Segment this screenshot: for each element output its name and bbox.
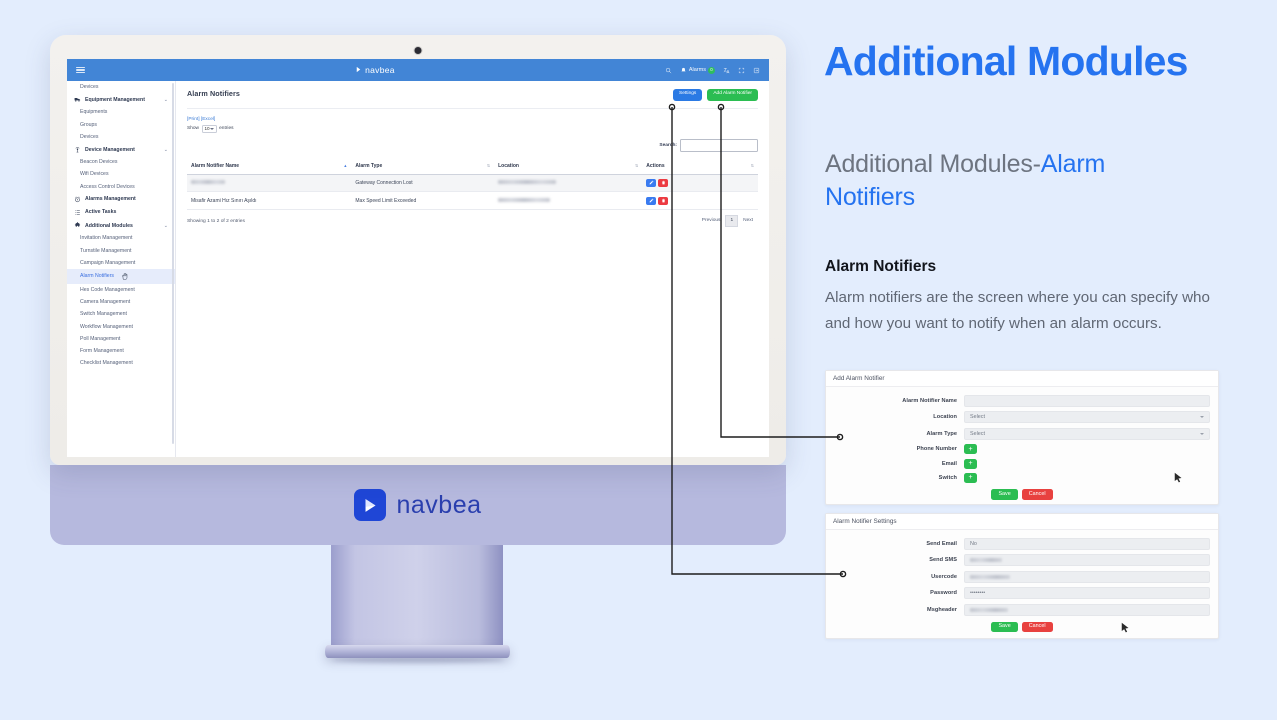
cell-location bbox=[494, 192, 642, 210]
sidebar-item-label: Groups bbox=[80, 122, 97, 128]
field-switch: Switch + bbox=[834, 473, 1210, 483]
alarm-notifier-settings-panel: Alarm Notifier Settings Send Email No Se… bbox=[825, 513, 1219, 639]
monitor-screen: navbea Alarms 0 bbox=[67, 59, 769, 457]
entries-label: entries bbox=[219, 126, 233, 131]
sidebar-item-label: Invitation Management bbox=[80, 235, 132, 241]
cancel-button[interactable]: Cancel bbox=[1022, 622, 1053, 633]
sidebar-item-poll-management[interactable]: Poll Management bbox=[67, 333, 175, 345]
monitor-frame: navbea Alarms 0 bbox=[50, 35, 786, 465]
msgheader-input[interactable] bbox=[964, 604, 1210, 616]
monitor-brand-label: navbea bbox=[396, 491, 481, 520]
main-content: Alarm Notifiers Settings Add Alarm Notif… bbox=[176, 81, 769, 457]
logout-icon[interactable] bbox=[753, 67, 760, 74]
monitor-brand-strip: navbea bbox=[50, 465, 786, 545]
truck-icon bbox=[74, 96, 81, 103]
monitor-mockup: navbea navbea bbox=[0, 0, 820, 720]
sidebar-scrollbar[interactable] bbox=[172, 83, 174, 444]
sidebar-item-checklist-management[interactable]: Checklist Management bbox=[67, 357, 175, 369]
field-label: Send SMS bbox=[834, 557, 964, 563]
alarm-notifier-name-input[interactable] bbox=[964, 395, 1210, 407]
hand-cursor-icon bbox=[121, 272, 129, 281]
field-usercode: Usercode bbox=[834, 571, 1210, 583]
table-row[interactable]: Gateway Connection Lost bbox=[187, 174, 758, 192]
field-label: Send Email bbox=[834, 541, 964, 547]
sidebar-item-label: Checklist Management bbox=[80, 360, 133, 366]
field-label: Switch bbox=[834, 475, 964, 481]
sidebar-item-label: Form Management bbox=[80, 348, 124, 354]
cell-actions bbox=[642, 192, 758, 210]
sidebar-item-invitation-management[interactable]: Invitation Management bbox=[67, 232, 175, 244]
sidebar-item-turnstile-management[interactable]: Turnstile Management bbox=[67, 244, 175, 256]
sidebar-item-devices[interactable]: Devices bbox=[67, 131, 175, 143]
panel-title: Alarm Notifier Settings bbox=[826, 514, 1218, 530]
table-toolbar: [Print] [Excel] Show 10 entries bbox=[187, 117, 758, 152]
column-location[interactable]: Location⇅ bbox=[494, 159, 642, 175]
translate-icon[interactable] bbox=[723, 67, 730, 74]
sidebar-item-active-tasks[interactable]: Active Tasks bbox=[67, 206, 175, 219]
export-controls: [Print] [Excel] Show 10 entries bbox=[187, 117, 234, 134]
sidebar-item-wifi-devices[interactable]: Wifi Devices bbox=[67, 168, 175, 180]
field-label: Email bbox=[834, 461, 964, 467]
search-label: Search: bbox=[659, 143, 677, 148]
redacted-value bbox=[970, 558, 1002, 562]
sidebar-item-label: Alarms Management bbox=[85, 196, 136, 202]
field-label: Password bbox=[834, 590, 964, 596]
alarms-count-badge: 0 bbox=[708, 67, 715, 74]
sidebar-item-device-management[interactable]: Device Management ⌄ bbox=[67, 143, 175, 156]
field-location: Location Select bbox=[834, 411, 1210, 423]
sidebar-item-alarm-notifiers[interactable]: Alarm Notifiers bbox=[67, 269, 175, 284]
sidebar-item-label: Access Control Devices bbox=[80, 184, 135, 190]
field-label: Msgheader bbox=[834, 607, 964, 613]
add-email-button[interactable]: + bbox=[964, 459, 977, 469]
field-alarm-type: Alarm Type Select bbox=[834, 428, 1210, 440]
sidebar-item-switch-management[interactable]: Switch Management bbox=[67, 308, 175, 320]
panel-actions: Save Cancel bbox=[834, 622, 1210, 633]
cell-alarm-type: Gateway Connection Lost bbox=[351, 174, 494, 192]
sidebar-item-label: Devices bbox=[80, 134, 98, 140]
alarm-notifiers-table: Alarm Notifier Name▲ Alarm Type⇅ Locatio… bbox=[187, 159, 758, 211]
field-label: Phone Number bbox=[834, 446, 964, 452]
app-sidebar[interactable]: Devices Equipment Management ⌄ Equipment… bbox=[67, 81, 176, 457]
webcam-dot-icon bbox=[415, 47, 422, 54]
cell-name bbox=[187, 174, 351, 192]
select-value: Select bbox=[970, 414, 985, 420]
settings-button[interactable]: Settings bbox=[673, 89, 702, 101]
sidebar-item-additional-modules[interactable]: Additional Modules ⌄ bbox=[67, 219, 175, 232]
redacted-value bbox=[970, 575, 1010, 579]
delete-trash-icon[interactable] bbox=[658, 197, 668, 205]
redacted-value bbox=[970, 608, 1008, 612]
sort-icon: ▲ bbox=[343, 164, 347, 168]
field-value: •••••••• bbox=[970, 590, 985, 596]
table-body: Gateway Connection Lost bbox=[187, 174, 758, 210]
antenna-icon bbox=[74, 146, 81, 153]
cell-alarm-type: Max Speed Limit Exceeded bbox=[351, 192, 494, 210]
sidebar-item-workflow-management[interactable]: Workflow Management bbox=[67, 321, 175, 333]
panel-body: Send Email No Send SMS Usercode Password bbox=[826, 530, 1218, 638]
print-link[interactable]: [Print] bbox=[187, 117, 200, 122]
sidebar-item-label: Additional Modules bbox=[85, 223, 133, 229]
monitor-stand-base bbox=[325, 645, 510, 658]
sidebar-item-label: Device Management bbox=[85, 147, 135, 153]
sidebar-item-label: Equipments bbox=[80, 109, 107, 115]
list-icon bbox=[74, 209, 81, 216]
field-label: Usercode bbox=[834, 574, 964, 580]
alarms-bell-button[interactable]: Alarms 0 bbox=[680, 67, 715, 74]
sidebar-item-label: Campaign Management bbox=[80, 260, 135, 266]
content-header: Alarm Notifiers Settings Add Alarm Notif… bbox=[187, 89, 758, 101]
location-select[interactable]: Select bbox=[964, 411, 1210, 423]
pagination-next[interactable]: Next bbox=[738, 215, 758, 227]
field-email: Email + bbox=[834, 459, 1210, 469]
navbea-mark-icon bbox=[355, 65, 362, 75]
sort-icon: ⇅ bbox=[487, 164, 490, 168]
excel-link[interactable]: [Excel] bbox=[201, 117, 215, 122]
edit-pencil-icon[interactable] bbox=[646, 179, 656, 187]
page-title: Alarm Notifiers bbox=[187, 89, 240, 98]
show-entries-control: Show 10 entries bbox=[187, 125, 234, 134]
sidebar-item-label: Camera Management bbox=[80, 299, 130, 305]
sidebar-item-form-management[interactable]: Form Management bbox=[67, 345, 175, 357]
table-header-row: Alarm Notifier Name▲ Alarm Type⇅ Locatio… bbox=[187, 159, 758, 175]
row-actions bbox=[646, 197, 754, 205]
field-send-email: Send Email No bbox=[834, 538, 1210, 550]
redacted-value bbox=[498, 180, 556, 184]
chevron-down-icon: ⌄ bbox=[164, 147, 168, 153]
field-phone-number: Phone Number + bbox=[834, 444, 1210, 454]
field-value: No bbox=[970, 541, 977, 547]
save-button[interactable]: Save bbox=[991, 622, 1017, 633]
field-msgheader: Msgheader bbox=[834, 604, 1210, 616]
sidebar-item-label: Beacon Devices bbox=[80, 159, 118, 165]
topbar-brand-label: navbea bbox=[365, 65, 395, 75]
chevron-down-icon: ⌄ bbox=[164, 97, 168, 103]
password-input[interactable]: •••••••• bbox=[964, 587, 1210, 599]
section-body: Alarm notifiers are the screen where you… bbox=[825, 285, 1230, 337]
field-password: Password •••••••• bbox=[834, 587, 1210, 599]
puzzle-icon bbox=[74, 222, 81, 229]
select-value: Select bbox=[970, 431, 985, 437]
sidebar-item-label: Equipment Management bbox=[85, 97, 145, 103]
pagination-previous[interactable]: Previous bbox=[697, 215, 726, 227]
main-heading: Additional Modules bbox=[824, 40, 1274, 83]
redacted-value bbox=[498, 198, 550, 202]
cell-location bbox=[494, 174, 642, 192]
redacted-value bbox=[191, 180, 225, 184]
search-icon[interactable] bbox=[665, 67, 672, 74]
sidebar-item-label: Workflow Management bbox=[80, 324, 133, 330]
table-info: Showing 1 to 2 of 2 entries bbox=[187, 219, 245, 224]
cell-name: Misafir Azami Hız Sınırı Aşıldı bbox=[187, 192, 351, 210]
app-topbar: navbea Alarms 0 bbox=[67, 59, 769, 81]
send-sms-input[interactable] bbox=[964, 554, 1210, 566]
sidebar-item-alarms-management[interactable]: Alarms Management bbox=[67, 193, 175, 206]
export-links[interactable]: [Print] [Excel] bbox=[187, 117, 234, 122]
sidebar-item-label: Wifi Devices bbox=[80, 171, 109, 177]
alarm-type-select[interactable]: Select bbox=[964, 428, 1210, 440]
sidebar-item-equipments[interactable]: Equipments bbox=[67, 106, 175, 118]
add-switch-button[interactable]: + bbox=[964, 473, 977, 483]
table-footer: Showing 1 to 2 of 2 entries Previous 1 N… bbox=[187, 215, 758, 227]
alarm-clock-icon bbox=[74, 196, 81, 203]
hamburger-icon[interactable] bbox=[76, 67, 85, 74]
field-label: Location bbox=[834, 414, 964, 420]
sidebar-item-label: Switch Management bbox=[80, 311, 127, 317]
search-control: Search: bbox=[659, 139, 758, 152]
sidebar-item-devices-top[interactable]: Devices bbox=[67, 81, 175, 93]
sidebar-item-label: Hes Code Management bbox=[80, 287, 135, 293]
panel-title: Add Alarm Notifier bbox=[826, 371, 1218, 387]
panel-actions: Save Cancel bbox=[834, 489, 1210, 500]
save-button[interactable]: Save bbox=[991, 489, 1017, 500]
sort-icon: ⇅ bbox=[635, 164, 638, 168]
topbar-actions: Alarms 0 bbox=[665, 67, 760, 74]
sort-icon: ⇅ bbox=[751, 164, 754, 168]
cancel-button[interactable]: Cancel bbox=[1022, 489, 1053, 500]
field-label: Alarm Notifier Name bbox=[834, 398, 964, 404]
add-alarm-notifier-button[interactable]: Add Alarm Notifier bbox=[707, 89, 758, 101]
field-label: Alarm Type bbox=[834, 431, 964, 437]
sidebar-item-campaign-management[interactable]: Campaign Management bbox=[67, 257, 175, 269]
column-actions[interactable]: Actions⇅ bbox=[642, 159, 758, 175]
add-phone-number-button[interactable]: + bbox=[964, 444, 977, 454]
sidebar-item-equipment-management[interactable]: Equipment Management ⌄ bbox=[67, 93, 175, 106]
row-actions bbox=[646, 179, 754, 187]
pagination-page-1[interactable]: 1 bbox=[725, 215, 738, 227]
explainer-panel: Additional Modules Additional Modules-Al… bbox=[820, 0, 1277, 720]
header-actions: Settings Add Alarm Notifier bbox=[673, 89, 758, 101]
usercode-input[interactable] bbox=[964, 571, 1210, 583]
navbea-logo-icon bbox=[354, 489, 386, 521]
add-alarm-notifier-panel: Add Alarm Notifier Alarm Notifier Name L… bbox=[825, 370, 1219, 505]
alarms-label: Alarms bbox=[689, 67, 706, 73]
sidebar-item-label: Alarm Notifiers bbox=[80, 273, 114, 279]
sidebar-item-label: Turnstile Management bbox=[80, 248, 131, 254]
column-alarm-notifier-name[interactable]: Alarm Notifier Name▲ bbox=[187, 159, 351, 175]
field-alarm-notifier-name: Alarm Notifier Name bbox=[834, 395, 1210, 407]
pagination: Previous 1 Next bbox=[697, 215, 758, 227]
field-send-sms: Send SMS bbox=[834, 554, 1210, 566]
send-email-input[interactable]: No bbox=[964, 538, 1210, 550]
sidebar-item-hes-code-management[interactable]: Hes Code Management bbox=[67, 284, 175, 296]
content-divider bbox=[187, 108, 758, 109]
delete-trash-icon[interactable] bbox=[658, 179, 668, 187]
search-input[interactable] bbox=[680, 139, 758, 152]
column-alarm-type[interactable]: Alarm Type⇅ bbox=[351, 159, 494, 175]
table-header: Alarm Notifier Name▲ Alarm Type⇅ Locatio… bbox=[187, 159, 758, 175]
show-label: Show bbox=[187, 126, 199, 131]
sidebar-item-label: Devices bbox=[80, 84, 98, 90]
sidebar-item-groups[interactable]: Groups bbox=[67, 119, 175, 131]
sidebar-item-beacon-devices[interactable]: Beacon Devices bbox=[67, 156, 175, 168]
sidebar-item-camera-management[interactable]: Camera Management bbox=[67, 296, 175, 308]
entries-per-page-select[interactable]: 10 bbox=[202, 125, 217, 134]
sub-heading-prefix: Additional Modules- bbox=[825, 150, 1041, 178]
sub-heading: Additional Modules-Alarm Notifiers bbox=[825, 148, 1195, 214]
chevron-down-icon: ⌄ bbox=[164, 223, 168, 229]
cell-actions bbox=[642, 174, 758, 192]
sidebar-item-label: Poll Management bbox=[80, 336, 120, 342]
section-title: Alarm Notifiers bbox=[825, 258, 936, 276]
sidebar-item-label: Active Tasks bbox=[85, 209, 116, 215]
fullscreen-icon[interactable] bbox=[738, 67, 745, 74]
navbea-app: navbea Alarms 0 bbox=[67, 59, 769, 457]
table-row[interactable]: Misafir Azami Hız Sınırı Aşıldı Max Spee… bbox=[187, 192, 758, 210]
app-body: Devices Equipment Management ⌄ Equipment… bbox=[67, 81, 769, 457]
panel-body: Alarm Notifier Name Location Select Alar… bbox=[826, 387, 1218, 506]
topbar-brand: navbea bbox=[85, 65, 665, 75]
sidebar-item-access-control-devices[interactable]: Access Control Devices bbox=[67, 181, 175, 193]
edit-pencil-icon[interactable] bbox=[646, 197, 656, 205]
